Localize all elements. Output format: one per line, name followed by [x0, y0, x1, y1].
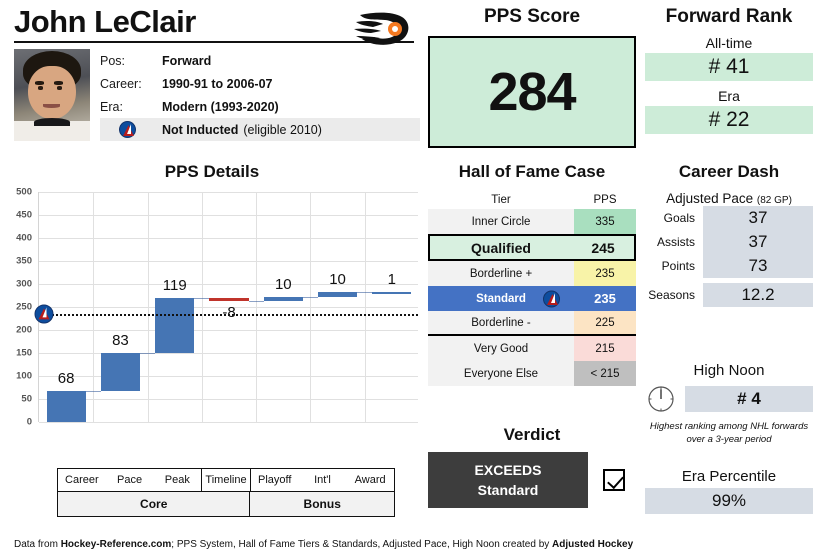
chart-category-table: CareerPacePeakTimelinePlayoffInt'lAward …: [57, 468, 395, 517]
category-group-cell: Bonus: [249, 492, 394, 516]
bar-value-label: 10: [275, 276, 292, 293]
waterfall-chart: 050100150200250300350400450500 6883119-8…: [0, 192, 424, 450]
y-tick-label: 450: [16, 210, 32, 221]
waterfall-connector: [140, 353, 155, 354]
grid-line-vertical: [202, 192, 203, 422]
grid-line-horizontal: [39, 284, 418, 285]
dash-label-seasons: Seasons: [645, 288, 703, 302]
high-noon-panel: High Noon # 4 Highest ranking among NHL …: [645, 362, 813, 447]
grid-line-horizontal: [39, 261, 418, 262]
career-dash-title: Career Dash: [645, 162, 813, 182]
verdict-box: EXCEEDS Standard: [428, 452, 588, 508]
grid-line-vertical: [148, 192, 149, 422]
hof-table-header: Tier PPS: [428, 194, 636, 209]
hof-tier-row: Very Good215: [428, 336, 636, 361]
dash-row-seasons: Seasons 12.2: [645, 283, 813, 307]
bio-value-career: 1990-91 to 2006-07: [162, 77, 273, 91]
hof-col-pps: PPS: [574, 194, 636, 206]
y-tick-label: 0: [27, 417, 32, 428]
era-percentile-panel: Era Percentile 99%: [645, 468, 813, 514]
adjusted-pace-subtitle: Adjusted Pace (82 GP): [645, 191, 813, 206]
category-cell: Timeline: [201, 469, 250, 491]
hof-tier-label: Borderline -: [428, 311, 574, 334]
bio-row-induction: Not Inducted (eligible 2010): [100, 118, 420, 141]
verdict-line-1: EXCEEDS: [475, 460, 542, 480]
verdict-panel: Verdict EXCEEDS Standard: [428, 425, 636, 508]
adjusted-pace-label: Adjusted Pace: [666, 191, 753, 206]
category-cell: Award: [346, 469, 394, 491]
hall-of-fame-table: Tier PPS Inner Circle335Qualified245Bord…: [428, 194, 636, 386]
dash-row-points: Points 73: [645, 254, 813, 278]
bar-value-label: 10: [329, 271, 346, 288]
waterfall-connector: [194, 298, 209, 299]
footer-part-2: ; PPS System, Hall of Fame Tiers & Stand…: [171, 539, 552, 550]
pps-details-title: PPS Details: [0, 162, 424, 182]
dash-row-assists: Assists 37: [645, 230, 813, 254]
chart-bar: [264, 297, 303, 302]
y-tick-label: 100: [16, 371, 32, 382]
category-group-row: CoreBonus: [58, 492, 394, 516]
hof-tier-row: Everyone Else< 215: [428, 361, 636, 386]
hhof-badge-icon: [34, 304, 53, 323]
pps-score-panel: PPS Score 284: [428, 6, 636, 148]
bio-row-career: Career: 1990-91 to 2006-07: [100, 72, 420, 95]
waterfall-connector: [357, 292, 372, 293]
player-bio-list: Pos: Forward Career: 1990-91 to 2006-07 …: [90, 49, 420, 141]
category-cell: Career: [58, 469, 106, 491]
bio-label-era: Era:: [100, 100, 162, 114]
dash-value-assists: 37: [703, 230, 813, 254]
hof-tier-pps: 335: [574, 209, 636, 234]
bar-value-label: 1: [388, 271, 396, 288]
hof-tier-row: Borderline -225: [428, 311, 636, 336]
pps-details-panel: PPS Details 0501001502002503003504004505…: [0, 162, 424, 450]
rank-value-era: # 22: [645, 106, 813, 134]
waterfall-connector: [249, 301, 264, 302]
dash-value-seasons: 12.2: [703, 283, 813, 307]
category-header-row: CareerPacePeakTimelinePlayoffInt'lAward: [58, 469, 394, 492]
grid-line-horizontal: [39, 238, 418, 239]
pps-score-title: PPS Score: [428, 6, 636, 28]
bio-value-era: Modern (1993-2020): [162, 100, 279, 114]
chart-bar: [318, 292, 357, 297]
grid-line-horizontal: [39, 376, 418, 377]
y-tick-label: 400: [16, 233, 32, 244]
bio-value-pos: Forward: [162, 54, 211, 68]
hall-of-fame-panel: Hall of Fame Case Tier PPS Inner Circle3…: [428, 162, 636, 386]
category-cell: Pace: [106, 469, 154, 491]
hof-tier-label: Borderline +: [428, 261, 574, 286]
rank-value-alltime: # 41: [645, 53, 813, 81]
grid-line-horizontal: [39, 422, 418, 423]
chart-bar: [372, 292, 411, 295]
verdict-line-2: Standard: [478, 480, 539, 500]
player-photo: [14, 49, 90, 141]
grid-line-vertical: [310, 192, 311, 422]
grid-line-vertical: [365, 192, 366, 422]
footer-author: Adjusted Hockey: [552, 539, 633, 550]
y-tick-label: 150: [16, 348, 32, 359]
y-tick-label: 50: [21, 394, 32, 405]
y-tick-label: 250: [16, 302, 32, 313]
high-noon-title: High Noon: [645, 362, 813, 379]
bio-label-career: Career:: [100, 77, 162, 91]
hof-tier-row: Borderline +235: [428, 261, 636, 286]
hhof-badge-icon: [543, 290, 560, 307]
career-dash-panel: Career Dash Adjusted Pace (82 GP) Goals …: [645, 162, 813, 307]
clock-icon: [645, 383, 677, 415]
footer-part-1: Data from: [14, 539, 61, 550]
hof-tier-row: Qualified245: [428, 234, 636, 261]
dash-label-assists: Assists: [645, 235, 703, 249]
grid-line-horizontal: [39, 330, 418, 331]
category-group-cell: Core: [58, 492, 249, 516]
category-cell: Playoff: [250, 469, 299, 491]
waterfall-connector: [303, 297, 318, 298]
dash-label-goals: Goals: [645, 211, 703, 225]
chart-bar: [47, 391, 86, 422]
rank-label-era: Era: [645, 88, 813, 104]
verdict-title: Verdict: [428, 425, 636, 445]
grid-line-vertical: [93, 192, 94, 422]
forward-rank-title: Forward Rank: [645, 6, 813, 28]
flyers-logo-icon: [352, 6, 416, 50]
hof-tier-label: Very Good: [428, 336, 574, 361]
hof-tier-row: Standard235: [428, 286, 636, 311]
era-percentile-title: Era Percentile: [645, 468, 813, 485]
bar-value-label: 68: [58, 370, 75, 387]
hof-tier-pps: 215: [574, 336, 636, 361]
hof-tier-pps: 245: [572, 236, 634, 259]
chart-plot-area: 6883119-810101: [38, 192, 418, 422]
forward-rank-panel: Forward Rank All-time # 41 Era # 22: [645, 6, 813, 134]
dash-value-goals: 37: [703, 206, 813, 230]
hof-tier-pps: < 215: [574, 361, 636, 386]
hof-tier-label: Inner Circle: [428, 209, 574, 234]
y-tick-label: 350: [16, 256, 32, 267]
hof-tier-label: Qualified: [430, 236, 572, 259]
grid-line-horizontal: [39, 353, 418, 354]
induction-status: Not Inducted: [162, 123, 238, 137]
y-tick-label: 500: [16, 187, 32, 198]
grid-line-horizontal: [39, 192, 418, 193]
hof-tier-pps: 235: [574, 261, 636, 286]
standard-reference-line: [39, 314, 418, 316]
hof-tier-label: Standard: [428, 286, 574, 311]
footer-credits: Data from Hockey-Reference.com; PPS Syst…: [14, 539, 812, 550]
waterfall-connector: [86, 391, 101, 392]
dash-value-points: 73: [703, 254, 813, 278]
dash-label-points: Points: [645, 259, 703, 273]
bio-row-pos: Pos: Forward: [100, 49, 420, 72]
y-tick-label: 200: [16, 325, 32, 336]
hof-tier-row: Inner Circle335: [428, 209, 636, 234]
era-percentile-value: 99%: [645, 488, 813, 514]
hof-col-tier: Tier: [428, 194, 574, 206]
bar-value-label: 119: [163, 277, 187, 294]
bio-label-pos: Pos:: [100, 54, 162, 68]
induction-note: (eligible 2010): [243, 123, 322, 137]
hof-tier-pps: 235: [574, 286, 636, 311]
grid-line-vertical: [256, 192, 257, 422]
pps-score-box: 284: [428, 36, 636, 148]
category-cell: Peak: [153, 469, 201, 491]
bar-value-label: 83: [112, 332, 129, 349]
bio-row-era: Era: Modern (1993-2020): [100, 95, 420, 118]
rank-label-alltime: All-time: [645, 35, 813, 51]
checkbox-checked-icon[interactable]: [603, 469, 625, 491]
high-noon-value: # 4: [685, 386, 813, 412]
hof-tier-label: Everyone Else: [428, 361, 574, 386]
y-tick-label: 300: [16, 279, 32, 290]
hall-of-fame-title: Hall of Fame Case: [428, 162, 636, 182]
grid-line-horizontal: [39, 215, 418, 216]
dash-row-goals: Goals 37: [645, 206, 813, 230]
chart-bar: [101, 353, 140, 391]
chart-y-axis: 050100150200250300350400450500: [0, 192, 36, 422]
hhof-badge-icon: [119, 121, 136, 138]
hof-tier-pps: 225: [574, 311, 636, 334]
chart-bar: [209, 298, 248, 302]
bar-value-label: -8: [222, 304, 235, 321]
category-cell: Int'l: [299, 469, 347, 491]
footer-source: Hockey-Reference.com: [61, 539, 172, 550]
pps-score-value: 284: [488, 61, 575, 123]
grid-line-horizontal: [39, 399, 418, 400]
high-noon-note: Highest ranking among NHL forwards over …: [645, 421, 813, 447]
adjusted-pace-gp: (82 GP): [757, 195, 792, 206]
chart-bar: [155, 298, 194, 353]
